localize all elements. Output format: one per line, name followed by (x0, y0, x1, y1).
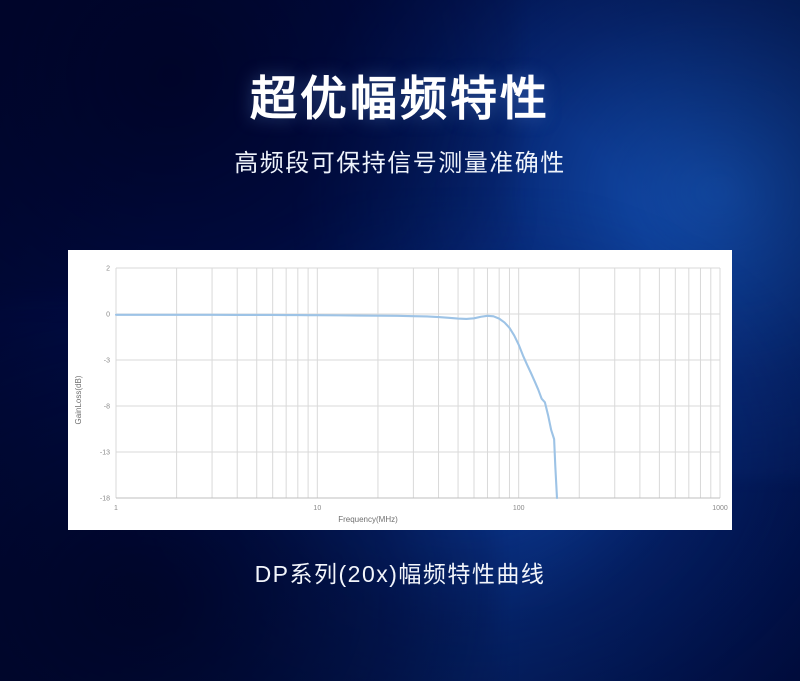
chart-y-tick-label: -3 (104, 358, 110, 365)
chart-y-axis-label: GainLoss(dB) (74, 375, 83, 424)
chart-x-tick-label: 1 (114, 505, 118, 512)
chart-x-tick-label: 1000 (712, 505, 728, 512)
chart-y-tick-label: 2 (106, 266, 110, 273)
chart-card: 20-3-8-13-181101001000 GainLoss(dB) Freq… (68, 250, 732, 530)
chart-y-tick-label: 0 (106, 312, 110, 319)
chart-x-tick-label: 10 (313, 505, 321, 512)
chart-y-tick-label: -18 (100, 496, 110, 503)
chart-y-tick-label: -8 (104, 404, 110, 411)
chart-caption: DP系列(20x)幅频特性曲线 (0, 555, 800, 589)
chart-y-tick-label: -13 (100, 450, 110, 457)
promo-page: 超优幅频特性 高频段可保持信号测量准确性 20-3-8-13-181101001… (0, 0, 800, 681)
hero-heading-block: 超优幅频特性 高频段可保持信号测量准确性 (0, 72, 800, 178)
page-subtitle: 高频段可保持信号测量准确性 (0, 143, 800, 178)
page-title: 超优幅频特性 (0, 72, 800, 126)
chart-x-tick-label: 100 (513, 505, 525, 512)
chart-x-axis-label: Frequency(MHz) (338, 515, 398, 524)
chart-gridlines (116, 268, 720, 498)
frequency-response-chart: 20-3-8-13-181101001000 GainLoss(dB) Freq… (68, 250, 732, 530)
